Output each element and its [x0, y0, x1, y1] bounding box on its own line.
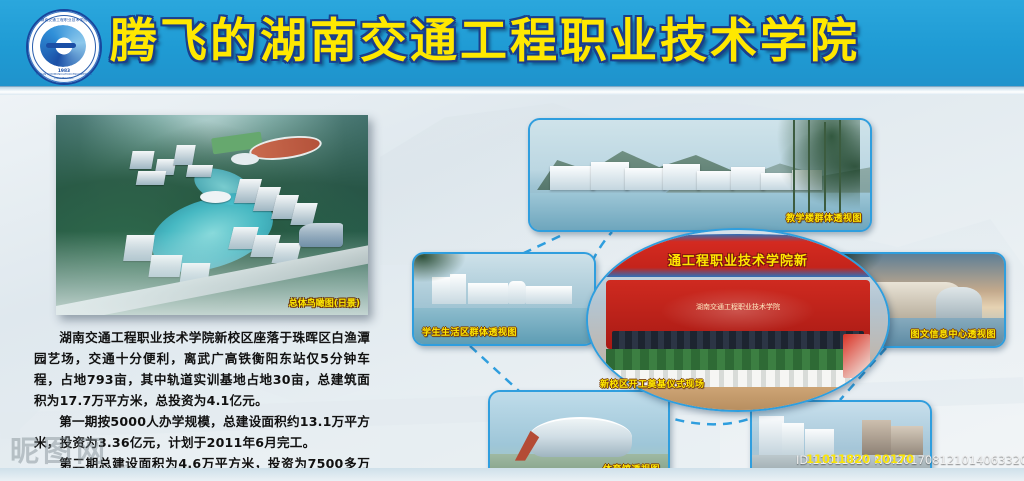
ceremony-stage-text: 湖南交通工程职业技术学院 [588, 302, 888, 312]
photo-teaching-buildings[interactable]: 教学楼群体透视图 [528, 118, 872, 232]
poster-canvas: 湖南交通工程职业技术学院 1983 HUNAN COMMUNICATION EN… [0, 0, 1024, 481]
page-title: 腾飞的湖南交通工程职业技术学院 [110, 6, 860, 78]
photo-aerial-view[interactable]: 总体鸟瞰图(日景) [56, 115, 368, 315]
article-paragraph-1: 湖南交通工程职业技术学院新校区座落于珠晖区白渔潭园艺场，交通十分便利，离武广高铁… [34, 327, 370, 411]
caption-groundbreaking-ceremony: 新校区开工奠基仪式现场 [600, 377, 705, 390]
library-tower [936, 287, 983, 322]
watermark-id-highlight: 11011820 20170 [806, 452, 914, 466]
stadium-structure [529, 417, 632, 458]
emblem-arc-text: HUNAN COMMUNICATION ENGINEERING POLYTECH… [28, 72, 100, 80]
poster-header: 湖南交通工程职业技术学院 1983 HUNAN COMMUNICATION EN… [0, 0, 1024, 86]
living-foliage [412, 252, 472, 286]
ceremony-flag-icon [843, 334, 870, 377]
emblem-bar-icon [46, 43, 76, 48]
photo-student-living-area[interactable]: 学生生活区群体透视图 [412, 252, 596, 346]
caption-library-info-center: 图文信息中心透视图 [910, 327, 996, 340]
footer-strip [0, 468, 1024, 481]
school-emblem-logo: 湖南交通工程职业技术学院 1983 HUNAN COMMUNICATION EN… [26, 9, 102, 85]
ceremony-banner-text: 通工程职业技术学院新 [588, 250, 888, 269]
ceremony-ground [588, 387, 888, 410]
caption-student-living-area: 学生生活区群体透视图 [422, 325, 517, 338]
caption-aerial-view: 总体鸟瞰图(日景) [289, 296, 360, 309]
aerial-mist-overlay [56, 115, 368, 315]
emblem-top-text: 湖南交通工程职业技术学院 [28, 18, 100, 23]
caption-teaching-buildings: 教学楼群体透视图 [786, 211, 862, 224]
teaching-bamboo [765, 118, 860, 217]
